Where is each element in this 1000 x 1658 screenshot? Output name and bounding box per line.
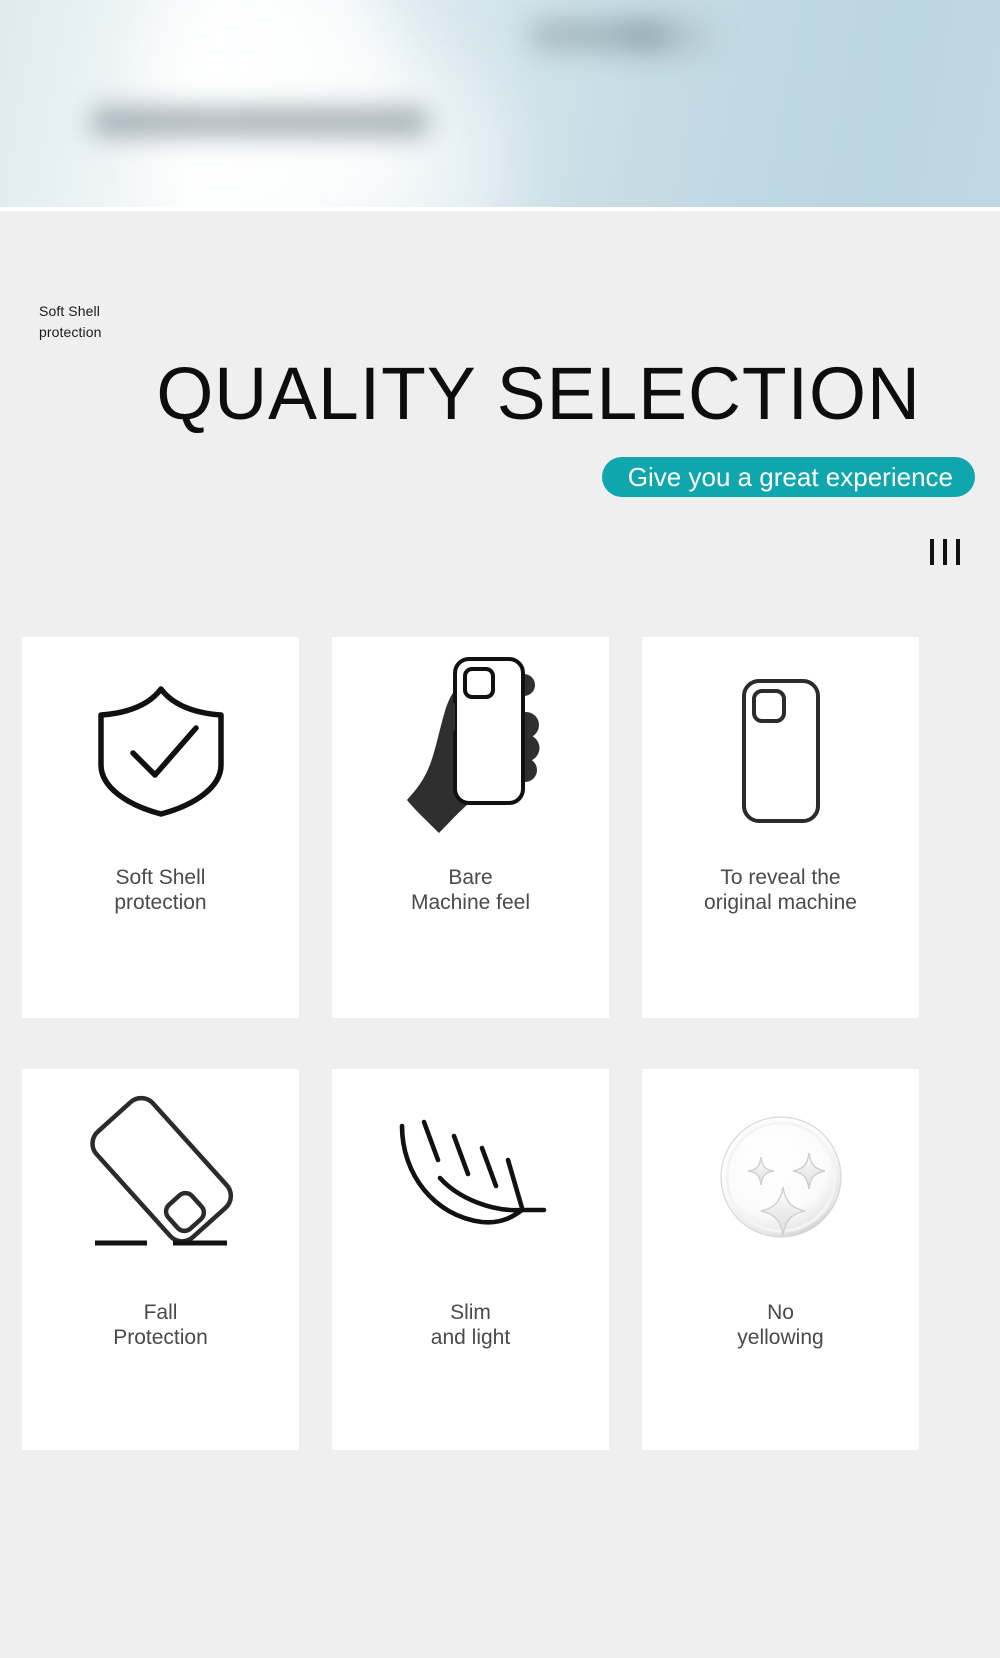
hero-divider — [0, 207, 1000, 211]
shield-check-icon-wrap — [22, 637, 299, 865]
sparkle-circle-icon-wrap — [642, 1069, 919, 1284]
hand-holding-phone-icon-wrap — [332, 637, 609, 865]
feature-card-label: Slim and light — [431, 1300, 510, 1350]
eyebrow-line-1: Soft Shell — [39, 301, 101, 322]
shield-check-icon — [95, 683, 227, 819]
decorative-bar-3 — [956, 539, 960, 565]
feature-card-soft-shell-protection: Soft Shell protection — [22, 637, 299, 1018]
feature-card-fall-protection: Fall Protection — [22, 1069, 299, 1450]
falling-phone-icon-wrap — [22, 1069, 299, 1284]
falling-phone-icon — [81, 1097, 241, 1257]
feather-icon — [396, 1118, 546, 1236]
badge-row: Give you a great experience — [0, 457, 1000, 497]
hero-blurred-text-tertiary — [620, 26, 710, 48]
hero-banner — [0, 0, 1000, 211]
phone-outline-icon-wrap — [642, 637, 919, 865]
hand-holding-phone-icon — [395, 653, 547, 849]
feature-card-slim-and-light: Slim and light — [332, 1069, 609, 1450]
feature-card-no-yellowing: No yellowing — [642, 1069, 919, 1450]
feature-card-bare-machine-feel: Bare Machine feel — [332, 637, 609, 1018]
phone-outline-icon — [740, 677, 822, 825]
feature-card-reveal-original-machine: To reveal the original machine — [642, 637, 919, 1018]
hero-blurred-text-primary — [90, 108, 430, 136]
feature-card-label: Bare Machine feel — [411, 865, 530, 915]
feature-card-label: To reveal the original machine — [704, 865, 857, 915]
feature-card-label: Soft Shell protection — [114, 865, 206, 915]
decorative-bar-1 — [930, 539, 934, 565]
eyebrow-line-2: protection — [39, 322, 101, 343]
eyebrow-label: Soft Shell protection — [39, 301, 101, 343]
sparkle-circle-icon — [717, 1113, 845, 1241]
page-title: QUALITY SELECTION — [5, 352, 995, 436]
experience-badge: Give you a great experience — [602, 457, 975, 497]
feature-grid: Soft Shell protection Bare Machine feel — [22, 637, 918, 1450]
feature-card-label: No yellowing — [737, 1300, 823, 1350]
decorative-bar-2 — [943, 539, 947, 565]
feather-icon-wrap — [332, 1069, 609, 1284]
feature-card-label: Fall Protection — [113, 1300, 208, 1350]
decorative-bars — [930, 539, 960, 565]
